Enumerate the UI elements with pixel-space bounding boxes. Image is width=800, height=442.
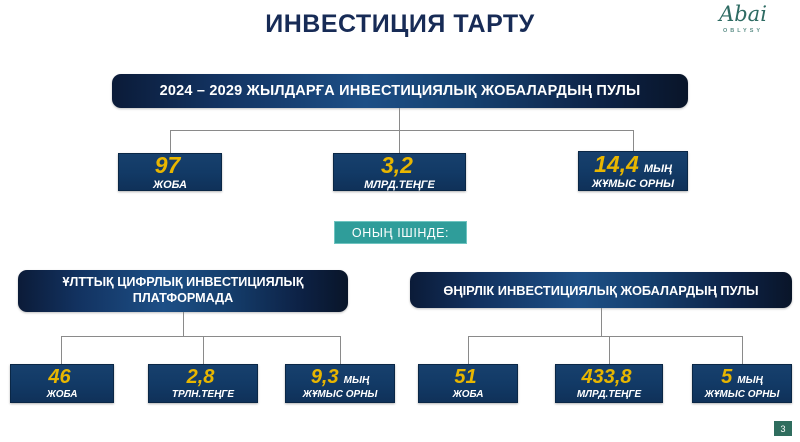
connector-to-stat-2: [399, 130, 400, 153]
abai-oblysy-logo: Abai OBLYSY: [700, 4, 786, 46]
connector-to-regional-stat-2: [609, 336, 610, 364]
stat-value: 14,4: [594, 153, 639, 176]
stat-label: ЖОБА: [47, 390, 78, 400]
connector-right-bar: [468, 336, 742, 337]
stat-value: 5: [721, 367, 732, 387]
stat-label: МЛРД.ТЕҢГЕ: [364, 180, 435, 191]
slide-canvas: ИНВЕСТИЦИЯ ТАРТУ Abai OBLYSY 2024 – 2029…: [0, 0, 800, 442]
connector-to-stat-3: [633, 130, 634, 151]
stat-card: 9,3 МЫҢ ЖҰМЫС ОРНЫ: [285, 364, 395, 403]
logo-subtitle: OBLYSY: [700, 29, 786, 35]
stat-label: ЖОБА: [153, 180, 187, 191]
stat-value-row: 9,3 МЫҢ: [311, 367, 369, 387]
connector-to-platform-stat-2: [203, 336, 204, 364]
stat-card: 5 МЫҢ ЖҰМЫС ОРНЫ: [692, 364, 792, 403]
stat-card: 51 ЖОБА: [418, 364, 518, 403]
section-header-regional-pool: ӨҢІРЛІК ИНВЕСТИЦИЯЛЫҚ ЖОБАЛАРДЫҢ ПУЛЫ: [410, 272, 792, 308]
stat-value-row: 97: [155, 154, 186, 177]
stat-card: 46 ЖОБА: [10, 364, 114, 403]
connector-right-stem: [601, 308, 602, 336]
stat-card: 14,4 МЫҢ ЖҰМЫС ОРНЫ: [578, 151, 688, 191]
stat-value-row: 51: [454, 367, 481, 387]
stat-card: 97 ЖОБА: [118, 153, 222, 191]
stat-value: 2,8: [187, 367, 215, 387]
connector-main-stem: [399, 108, 400, 130]
stat-value-row: 14,4 МЫҢ: [594, 153, 672, 176]
stat-value-row: 3,2: [381, 154, 418, 177]
page-title: ИНВЕСТИЦИЯ ТАРТУ: [0, 10, 800, 39]
stat-value-row: 433,8: [581, 367, 636, 387]
connector-to-regional-stat-1: [468, 336, 469, 364]
stat-unit-inline: МЫҢ: [737, 376, 763, 386]
stat-value-row: 2,8: [187, 367, 220, 387]
stat-label: МЛРД.ТЕҢГЕ: [577, 390, 641, 400]
logo-wordmark: Abai: [700, 4, 786, 25]
connector-to-stat-1: [170, 130, 171, 153]
stat-label: ЖОБА: [453, 390, 484, 400]
stat-label: ЖҰМЫС ОРНЫ: [303, 390, 378, 400]
stat-label: ТРЛН.ТЕҢГЕ: [172, 390, 234, 400]
stat-value: 9,3: [311, 367, 339, 387]
stat-card: 3,2 МЛРД.ТЕҢГЕ: [333, 153, 466, 191]
stat-label: ЖҰМЫС ОРНЫ: [592, 179, 674, 190]
stat-unit-inline: МЫҢ: [344, 376, 370, 386]
stat-value: 3,2: [381, 154, 413, 177]
stat-card: 433,8 МЛРД.ТЕҢГЕ: [555, 364, 663, 403]
stat-card: 2,8 ТРЛН.ТЕҢГЕ: [148, 364, 258, 403]
connector-to-regional-stat-3: [742, 336, 743, 364]
section-header-line-2: ПЛАТФОРМАДА: [62, 291, 303, 307]
section-header-line-1: ҰЛТТЫҚ ЦИФРЛЫҚ ИНВЕСТИЦИЯЛЫҚ: [62, 275, 303, 291]
stat-value-row: 46: [48, 367, 75, 387]
stat-value: 97: [155, 154, 181, 177]
stat-unit-inline: МЫҢ: [644, 164, 672, 175]
stat-value: 51: [454, 367, 476, 387]
stat-label: ЖҰМЫС ОРНЫ: [705, 390, 780, 400]
stat-value-row: 5 МЫҢ: [721, 367, 763, 387]
connector-left-stem: [183, 312, 184, 336]
connector-main-bar: [170, 130, 633, 131]
connector-left-bar: [61, 336, 340, 337]
connector-to-platform-stat-3: [340, 336, 341, 364]
stat-value: 433,8: [581, 367, 631, 387]
among-which-label: ОНЫҢ ІШІНДЕ:: [334, 221, 467, 244]
page-number-badge: 3: [774, 421, 792, 436]
stat-value: 46: [48, 367, 70, 387]
connector-to-platform-stat-1: [61, 336, 62, 364]
main-pool-header: 2024 – 2029 ЖЫЛДАРҒА ИНВЕСТИЦИЯЛЫҚ ЖОБАЛ…: [112, 74, 688, 108]
section-header-national-platform: ҰЛТТЫҚ ЦИФРЛЫҚ ИНВЕСТИЦИЯЛЫҚ ПЛАТФОРМАДА: [18, 270, 348, 312]
